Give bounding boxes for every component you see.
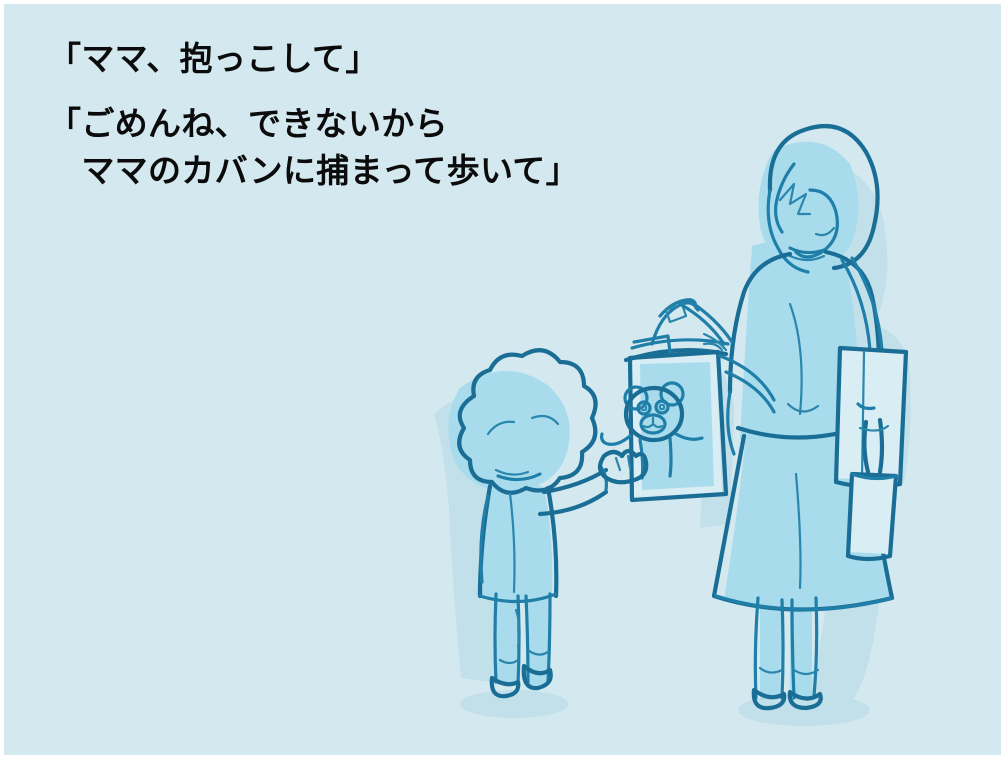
caption-block-mother-reply: 「ごめんね、できないから ママのカバンに捕まって歩いて」 <box>48 101 708 195</box>
caption-line: 「ママ、抱っこして」 <box>48 36 708 83</box>
caption-line: 「ごめんね、できないから <box>48 101 708 148</box>
caption-block-child-line: 「ママ、抱っこして」 <box>48 36 708 83</box>
caption-text-block: 「ママ、抱っこして」 「ごめんね、できないから ママのカバンに捕まって歩いて」 <box>48 36 708 195</box>
slide-canvas: .st { fill: none; stroke: #1f7fa8; strok… <box>0 0 1005 759</box>
caption-line: ママのカバンに捕まって歩いて」 <box>48 148 708 195</box>
